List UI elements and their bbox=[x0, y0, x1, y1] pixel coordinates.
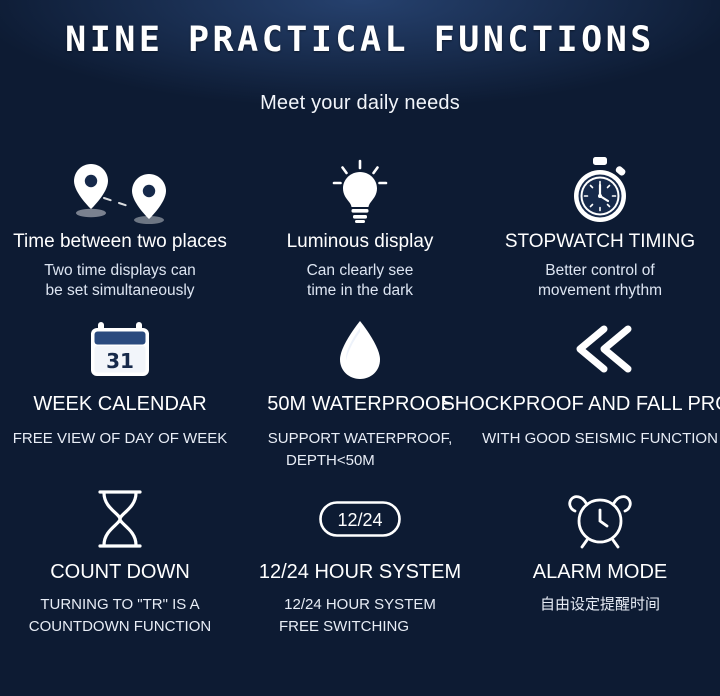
feature-title: WEEK CALENDAR bbox=[33, 393, 206, 416]
poster: NINE PRACTICAL FUNCTIONS Meet your daily… bbox=[0, 0, 720, 696]
feature-desc-line1: WITH GOOD SEISMIC FUNCTION bbox=[482, 428, 718, 451]
feature-desc-line2: DEPTH<50M bbox=[286, 450, 375, 473]
page-subtitle: Meet your daily needs bbox=[0, 92, 720, 115]
feature-title: SHOCKPROOF AND FALL PROOF bbox=[441, 393, 720, 416]
feature-shockproof-fall-proof: SHOCKPROOF AND FALL PROOF WITH GOOD SEIS… bbox=[480, 315, 720, 473]
page-title: NINE PRACTICAL FUNCTIONS bbox=[0, 20, 720, 60]
features-grid: Time between two places Two time display… bbox=[0, 155, 720, 639]
feature-title: Time between two places bbox=[13, 231, 227, 253]
feature-title: COUNT DOWN bbox=[50, 561, 190, 584]
feature-desc-line1: Two time displays can bbox=[44, 261, 196, 281]
feature-stopwatch-timing: STOPWATCH TIMING Better control of movem… bbox=[480, 155, 720, 301]
badge-label: 12/24 bbox=[337, 510, 382, 530]
feature-desc-line2: FREE SWITCHING bbox=[279, 616, 409, 639]
features-row-2: 31 WEEK CALENDAR FREE VIEW OF DAY OF WEE… bbox=[0, 315, 720, 473]
double-chevron-icon bbox=[560, 315, 640, 387]
feature-title: 50M WATERPROOF bbox=[267, 393, 453, 416]
feature-count-down: COUNT DOWN TURNING TO "TR" IS A COUNTDOW… bbox=[0, 483, 240, 639]
feature-alarm-mode: ALARM MODE 自由设定提醒时间 bbox=[480, 483, 720, 639]
features-row-1: Time between two places Two time display… bbox=[0, 155, 720, 301]
alarm-clock-icon bbox=[562, 483, 638, 555]
feature-title: STOPWATCH TIMING bbox=[505, 231, 695, 253]
feature-week-calendar: 31 WEEK CALENDAR FREE VIEW OF DAY OF WEE… bbox=[0, 315, 240, 473]
features-row-3: COUNT DOWN TURNING TO "TR" IS A COUNTDOW… bbox=[0, 483, 720, 639]
feature-desc-line1: TURNING TO "TR" IS A bbox=[40, 594, 199, 617]
feature-desc-line1: 自由设定提醒时间 bbox=[540, 594, 660, 617]
feature-desc-line2: time in the dark bbox=[307, 281, 413, 301]
feature-desc-line1: Can clearly see bbox=[307, 261, 414, 281]
feature-desc-line2: COUNTDOWN FUNCTION bbox=[29, 616, 211, 639]
feature-12-24-hour-system: 12/24 12/24 HOUR SYSTEM 12/24 HOUR SYSTE… bbox=[240, 483, 480, 639]
calendar-icon: 31 bbox=[82, 315, 158, 387]
feature-desc-line1: SUPPORT WATERPROOF, bbox=[268, 428, 452, 451]
feature-title: ALARM MODE bbox=[533, 561, 667, 584]
water-drop-icon bbox=[329, 315, 391, 387]
feature-time-between-two-places: Time between two places Two time display… bbox=[0, 155, 240, 301]
feature-desc-line1: Better control of bbox=[545, 261, 654, 281]
feature-desc-line2: be set simultaneously bbox=[45, 281, 194, 301]
feature-desc-line1: FREE VIEW OF DAY OF WEEK bbox=[13, 428, 227, 451]
dual-location-pins-icon bbox=[55, 155, 185, 227]
feature-desc-line1: 12/24 HOUR SYSTEM bbox=[284, 594, 436, 617]
12-24-badge-icon: 12/24 bbox=[318, 483, 402, 555]
feature-luminous-display: Luminous display Can clearly see time in… bbox=[240, 155, 480, 301]
feature-title: 12/24 HOUR SYSTEM bbox=[259, 561, 461, 584]
calendar-day-number: 31 bbox=[106, 349, 134, 373]
hourglass-icon bbox=[85, 483, 155, 555]
stopwatch-icon bbox=[557, 155, 643, 227]
feature-desc-line2: movement rhythm bbox=[538, 281, 662, 301]
feature-title: Luminous display bbox=[287, 231, 434, 253]
light-bulb-icon bbox=[315, 155, 405, 227]
